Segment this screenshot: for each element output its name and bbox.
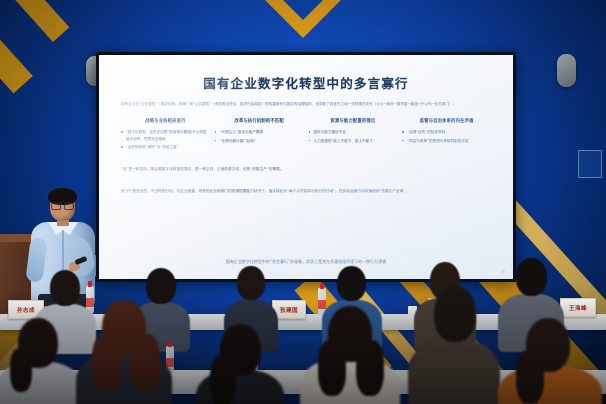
presentation-slide: 国有企业数字化转型中的多言寡行 国有企业在“企业属性”（追求利润、效率）和“公共…: [99, 55, 513, 279]
slide-body-paragraph-1: “言”是一种意向，象征着数字化转型的导向，是一种正向、正面改革方向，也是“改善生…: [121, 165, 491, 175]
bullet-item: 团队与能力建设不足: [309, 129, 398, 136]
chevron-decor-icon: [251, 0, 355, 38]
bullet-item: “数字化转型、全员无边界”的宣传与集团/子公司层级不对称、思想无法落地: [121, 129, 210, 142]
slide-columns: 战略与业务相关言行 “数字化转型、全员无边界”的宣传与集团/子公司层级不对称、思…: [121, 118, 491, 153]
audience-member-foreground: [300, 306, 400, 404]
name-card-text: 王海峰: [569, 304, 587, 312]
name-card-text: 张建国: [280, 306, 298, 314]
conference-room-scene: 国有企业数字化转型中的多言寡行 国有企业在“企业属性”（追求利润、效率）和“公共…: [0, 0, 606, 404]
bullet-item: “合规”优先“的检查导向: [402, 129, 491, 136]
audience-member-foreground: [0, 318, 82, 404]
slide-column-4: 监管与自治体系的内在矛盾 “合规”优先“的检查导向 “风控与效率”的思想与考核机…: [402, 118, 491, 153]
column-heading: 改革与执行机制的不匹配: [215, 118, 304, 124]
slide-intro-paragraph: 国有企业在“企业属性”（追求利润、效率）和“公共属性”（承担政治任务、维护社会稳…: [121, 101, 491, 108]
wall-speaker-right-icon: [557, 54, 576, 87]
bullet-item: “风控与效率”的思想与考核机制的冲突: [402, 138, 491, 145]
audience-member-foreground: [408, 286, 500, 404]
column-bullet-list: 团队与能力建设不足 人力资源的“能上不能下、能上不能下”: [309, 129, 398, 144]
name-card-text: 孙志成: [17, 306, 35, 314]
column-bullet-list: “数字化转型、全员无边界”的宣传与集团/子公司层级不对称、思想无法落地 “运作体…: [121, 129, 210, 151]
audience-member-foreground: [196, 324, 284, 404]
audience-member-foreground: [76, 300, 172, 404]
slide-column-1: 战略与业务相关言行 “数字化转型、全员无边界”的宣传与集团/子公司层级不对称、思…: [121, 118, 210, 153]
column-heading: 监管与自治体系的内在矛盾: [402, 118, 491, 124]
slide-title: 国有企业数字化转型中的多言寡行: [121, 73, 491, 92]
audience-member-foreground: [498, 318, 602, 404]
name-card: 王海峰: [560, 298, 596, 317]
bullet-item: “业绩分解与部门目标”: [215, 138, 304, 145]
slide-column-2: 改革与执行机制的不匹配 “长期主义”宣言与客户需求 “业绩分解与部门目标”: [215, 118, 304, 153]
glasses-icon: [51, 202, 74, 208]
wall-fixture: [578, 150, 602, 178]
column-bullet-list: “长期主义”宣言与客户需求 “业绩分解与部门目标”: [215, 129, 304, 144]
column-bullet-list: “合规”优先“的检查导向 “风控与效率”的思想与考核机制的冲突: [402, 129, 491, 144]
column-heading: 资源与能力配置的错位: [309, 118, 398, 124]
bullet-item: “长期主义”宣言与客户需求: [215, 129, 304, 136]
slide-body-paragraph-2: 而“行”是完全的、不过时的行动，与企业运营、现有的企业和部门的资源配置能力状况下…: [121, 187, 491, 197]
bullet-item: 人力资源的“能上不能下、能上不能下”: [309, 138, 398, 145]
projection-screen: 国有企业数字化转型中的多言寡行 国有企业在“企业属性”（追求利润、效率）和“公共…: [99, 55, 513, 279]
slide-column-3: 资源与能力配置的错位 团队与能力建设不足 人力资源的“能上不能下、能上不能下”: [309, 118, 398, 153]
projection-screen-frame: 国有企业数字化转型中的多言寡行 国有企业在“企业属性”（追求利润、效率）和“公共…: [96, 52, 516, 282]
bullet-item: “运作体系的“闭环”与“平台工支”: [121, 144, 210, 151]
column-heading: 战略与业务相关言行: [121, 118, 210, 124]
